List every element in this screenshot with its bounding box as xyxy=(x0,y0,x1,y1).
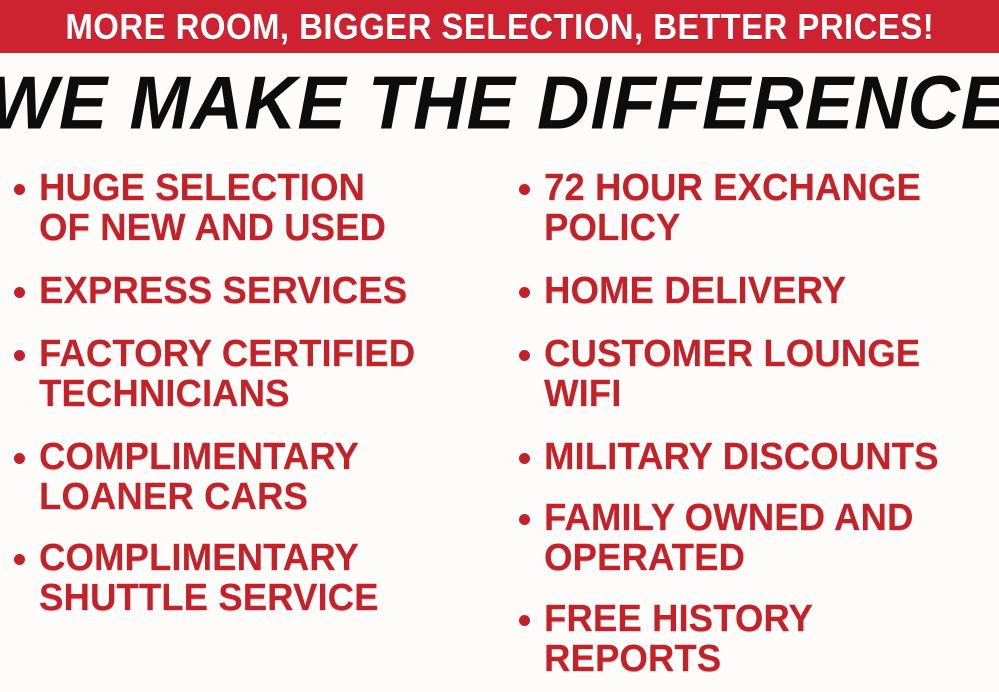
list-item: FACTORY CERTIFIED TECHNICIANS xyxy=(14,334,505,414)
list-item-label: HUGE SELECTION OF NEW AND USED xyxy=(39,168,386,248)
features-column-left: HUGE SELECTION OF NEW AND USED EXPRESS S… xyxy=(0,160,505,618)
list-item-label: COMPLIMENTARY LOANER CARS xyxy=(39,437,359,517)
bullet-dot-icon xyxy=(14,350,25,361)
top-banner: MORE ROOM, BIGGER SELECTION, BETTER PRIC… xyxy=(0,0,999,53)
bullet-dot-icon xyxy=(519,350,530,361)
page-title: WE MAKE THE DIFFERENCE xyxy=(0,65,999,140)
list-item: COMPLIMENTARY SHUTTLE SERVICE xyxy=(14,538,505,618)
banner-headline-text: MORE ROOM, BIGGER SELECTION, BETTER PRIC… xyxy=(65,9,934,45)
bullet-dot-icon xyxy=(519,453,530,464)
list-item-label: FREE HISTORY REPORTS xyxy=(544,599,813,679)
list-item: FREE HISTORY REPORTS xyxy=(519,599,999,679)
list-item-label: CUSTOMER LOUNGE WIFI xyxy=(544,334,920,414)
list-item-label: COMPLIMENTARY SHUTTLE SERVICE xyxy=(39,538,379,618)
list-item: MILITARY DISCOUNTS xyxy=(519,437,999,477)
list-item-label: FACTORY CERTIFIED TECHNICIANS xyxy=(39,334,415,414)
features-columns: HUGE SELECTION OF NEW AND USED EXPRESS S… xyxy=(0,160,999,692)
list-item: FAMILY OWNED AND OPERATED xyxy=(519,498,999,578)
features-column-right: 72 HOUR EXCHANGE POLICY HOME DELIVERY CU… xyxy=(505,160,999,679)
list-item: 72 HOUR EXCHANGE POLICY xyxy=(519,168,999,248)
bullet-dot-icon xyxy=(519,184,530,195)
list-item-label: 72 HOUR EXCHANGE POLICY xyxy=(544,168,921,248)
list-item: HUGE SELECTION OF NEW AND USED xyxy=(14,168,505,248)
bullet-dot-icon xyxy=(519,615,530,626)
list-item: HOME DELIVERY xyxy=(519,271,999,311)
list-item-label: MILITARY DISCOUNTS xyxy=(544,437,939,477)
bullet-dot-icon xyxy=(14,453,25,464)
list-item-label: EXPRESS SERVICES xyxy=(39,271,407,311)
bullet-dot-icon xyxy=(519,514,530,525)
list-item: CUSTOMER LOUNGE WIFI xyxy=(519,334,999,414)
headline-container: WE MAKE THE DIFFERENCE xyxy=(0,62,999,144)
list-item-label: FAMILY OWNED AND OPERATED xyxy=(544,498,913,578)
bullet-dot-icon xyxy=(14,554,25,565)
list-item: EXPRESS SERVICES xyxy=(14,271,505,311)
bullet-dot-icon xyxy=(14,287,25,298)
bullet-dot-icon xyxy=(14,184,25,195)
list-item-label: HOME DELIVERY xyxy=(544,271,846,311)
list-item: COMPLIMENTARY LOANER CARS xyxy=(14,437,505,517)
bullet-dot-icon xyxy=(519,287,530,298)
promo-poster: MORE ROOM, BIGGER SELECTION, BETTER PRIC… xyxy=(0,0,999,692)
